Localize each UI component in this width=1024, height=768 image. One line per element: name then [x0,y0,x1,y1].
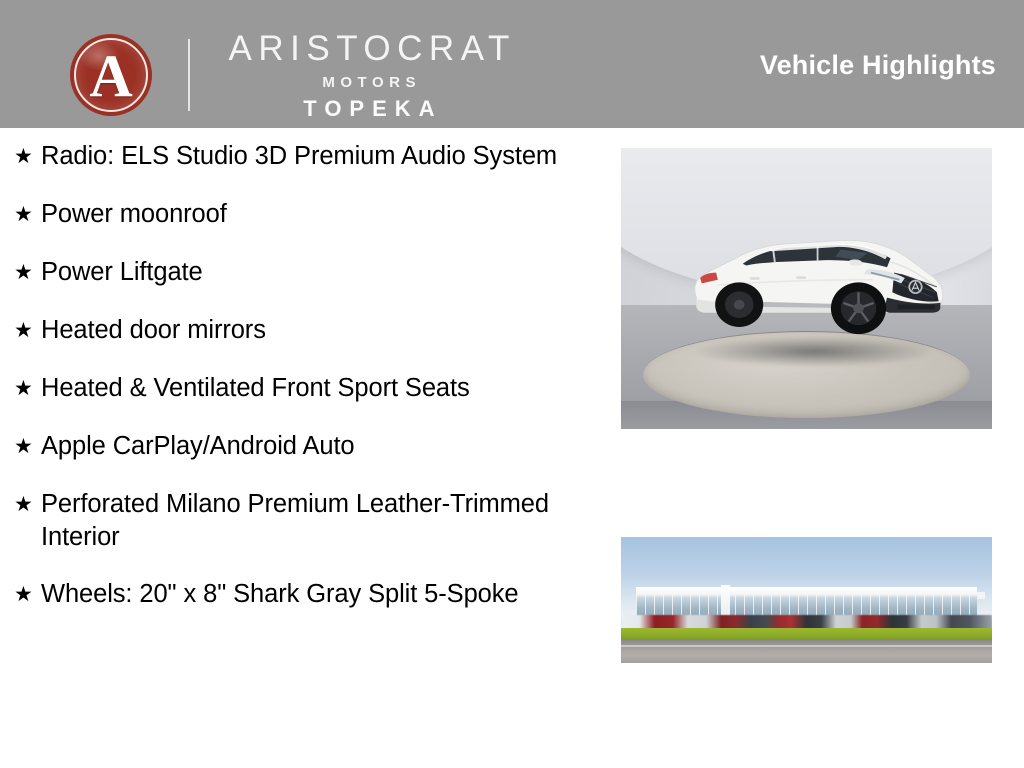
star-bullet-icon: ★ [10,488,41,522]
list-item-label: Perforated Milano Premium Leather-Trimme… [41,488,582,554]
emblem-letter-a: A [89,46,132,106]
list-item-label: Apple CarPlay/Android Auto [41,430,582,463]
vehicle-shadow [695,336,932,367]
list-item-label: Radio: ELS Studio 3D Premium Audio Syste… [41,140,582,173]
list-item: ★ Heated door mirrors [10,314,582,348]
aristocrat-emblem-icon: A [70,34,152,116]
dealership-exterior-photo [621,537,992,663]
list-item: ★ Apple CarPlay/Android Auto [10,430,582,464]
header-band: A ARISTOCRAT MOTORS TOPEKA Vehicle Highl… [0,0,1024,128]
star-bullet-icon: ★ [10,198,41,232]
list-item: ★ Radio: ELS Studio 3D Premium Audio Sys… [10,140,582,174]
grass-strip [621,628,992,641]
list-item: ★ Power moonroof [10,198,582,232]
star-bullet-icon: ★ [10,256,41,290]
suv-illustration-icon [684,221,951,337]
list-item: ★ Perforated Milano Premium Leather-Trim… [10,488,582,554]
list-item-label: Heated & Ventilated Front Sport Seats [41,372,582,405]
road-foreground [621,640,992,663]
star-bullet-icon: ★ [10,314,41,348]
brand-wordmark: ARISTOCRAT MOTORS TOPEKA [222,31,516,120]
list-item-label: Power moonroof [41,198,582,231]
white-suv-on-turntable-photo [621,148,992,429]
road-edge-line [621,645,992,647]
wordmark-motors: MOTORS [317,75,421,90]
wordmark-aristocrat: ARISTOCRAT [222,31,516,66]
star-bullet-icon: ★ [10,140,41,174]
list-item-label: Power Liftgate [41,256,582,289]
list-item-label: Wheels: 20" x 8" Shark Gray Split 5-Spok… [41,578,582,611]
list-item: ★ Heated & Ventilated Front Sport Seats [10,372,582,406]
slide-canvas: A ARISTOCRAT MOTORS TOPEKA Vehicle Highl… [0,0,1024,768]
list-item-label: Heated door mirrors [41,314,582,347]
vehicle-highlights-list: ★ Radio: ELS Studio 3D Premium Audio Sys… [10,140,582,636]
list-item: ★ Wheels: 20" x 8" Shark Gray Split 5-Sp… [10,578,582,612]
star-bullet-icon: ★ [10,372,41,406]
brand-logo-lockup: A ARISTOCRAT MOTORS TOPEKA [70,27,516,123]
star-bullet-icon: ★ [10,430,41,464]
wordmark-topeka: TOPEKA [295,98,442,120]
list-item: ★ Power Liftgate [10,256,582,290]
vertical-divider-icon [188,39,190,111]
page-title: Vehicle Highlights [760,50,996,81]
star-bullet-icon: ★ [10,578,41,612]
